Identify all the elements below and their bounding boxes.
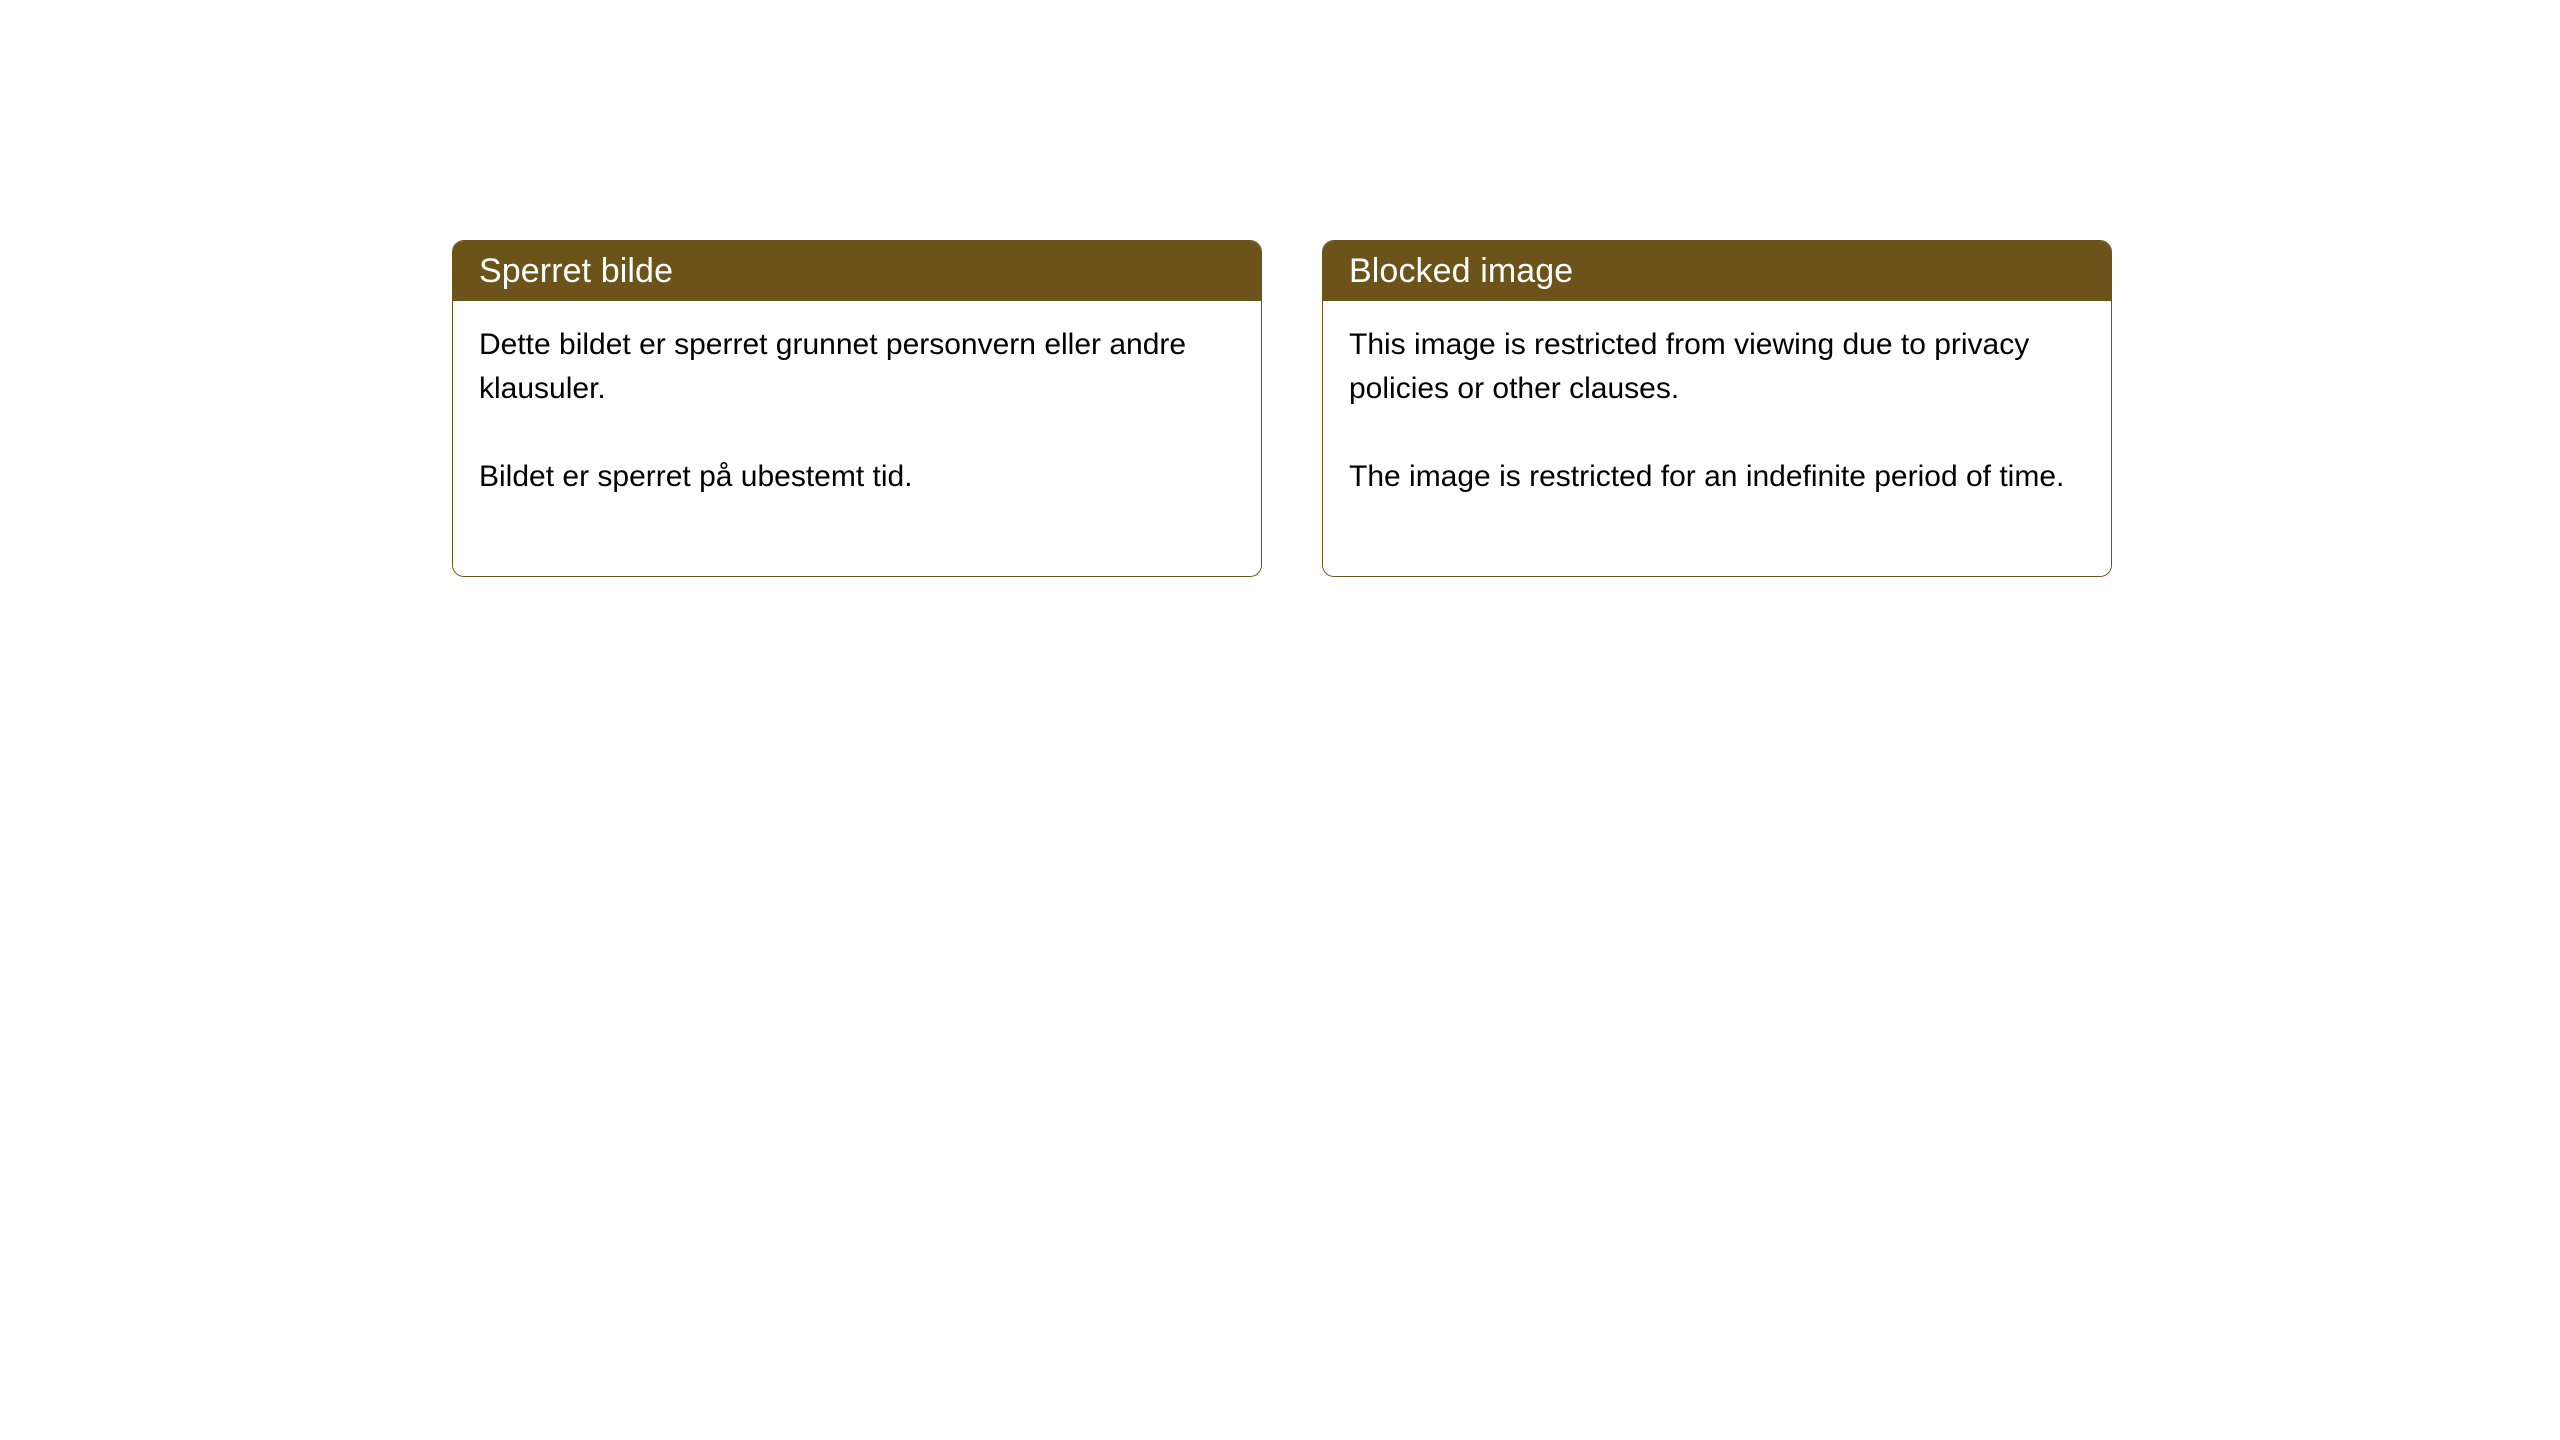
card-paragraph-english-2: The image is restricted for an indefinit…: [1349, 455, 2085, 499]
card-body-english: This image is restricted from viewing du…: [1323, 301, 2111, 576]
blocked-image-notice-row: Sperret bilde Dette bildet er sperret gr…: [452, 240, 2112, 577]
blocked-image-card-english: Blocked image This image is restricted f…: [1322, 240, 2112, 577]
card-body-norwegian: Dette bildet er sperret grunnet personve…: [453, 301, 1261, 576]
card-title-english: Blocked image: [1349, 254, 1573, 288]
card-paragraph-norwegian-1: Dette bildet er sperret grunnet personve…: [479, 323, 1235, 411]
page-root: Sperret bilde Dette bildet er sperret gr…: [0, 0, 2560, 1440]
card-paragraph-norwegian-2: Bildet er sperret på ubestemt tid.: [479, 455, 1235, 499]
blocked-image-card-norwegian: Sperret bilde Dette bildet er sperret gr…: [452, 240, 1262, 577]
card-paragraph-english-1: This image is restricted from viewing du…: [1349, 323, 2085, 411]
card-header-norwegian: Sperret bilde: [453, 241, 1261, 301]
card-title-norwegian: Sperret bilde: [479, 254, 673, 288]
card-header-english: Blocked image: [1323, 241, 2111, 301]
